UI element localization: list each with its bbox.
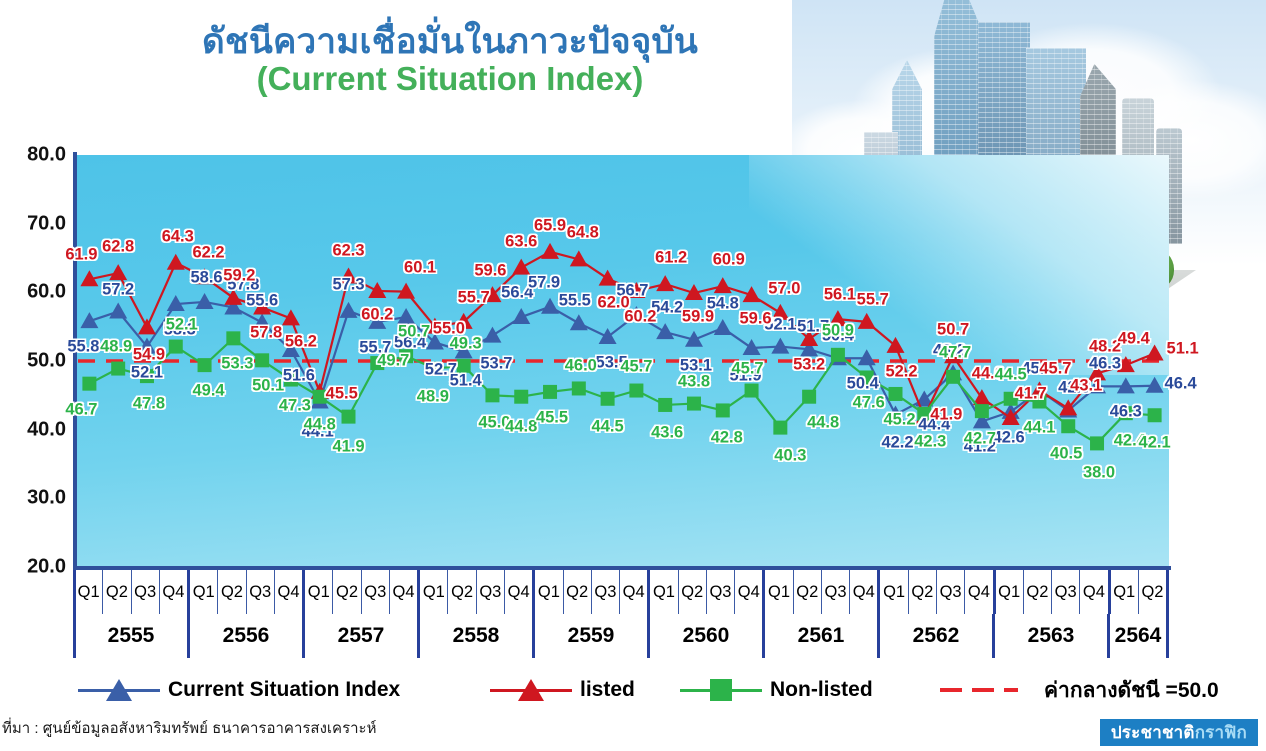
- data-label: 50.7: [398, 323, 430, 342]
- y-tick-label: 40.0: [0, 418, 66, 441]
- data-label: 65.9: [534, 216, 566, 235]
- data-label: 61.9: [65, 246, 97, 265]
- quarter-label: Q3: [592, 570, 620, 614]
- year-label: 2556: [190, 614, 305, 658]
- data-label: 60.2: [624, 307, 656, 326]
- data-label: 45.7: [620, 357, 652, 376]
- quarter-label: Q1: [1111, 570, 1139, 614]
- quarter-label: Q2: [1139, 570, 1169, 614]
- data-label: 42.8: [711, 429, 743, 448]
- data-label: 46.0: [565, 357, 597, 376]
- quarter-label: Q2: [794, 570, 822, 614]
- data-label: 44.8: [505, 417, 537, 436]
- quarter-label: Q2: [448, 570, 476, 614]
- data-label: 45.5: [326, 384, 358, 403]
- data-label: 51.1: [1167, 340, 1199, 359]
- quarter-label: Q3: [477, 570, 505, 614]
- year-label: 2564: [1110, 614, 1169, 658]
- data-label: 47.6: [853, 394, 885, 413]
- data-label: 44.5: [592, 417, 624, 436]
- page-title-thai: ดัชนีความเชื่อมั่นในภาวะปัจจุบัน: [0, 22, 900, 61]
- quarter-label: Q2: [679, 570, 707, 614]
- quarter-label: Q3: [1052, 570, 1080, 614]
- data-label: 59.9: [682, 308, 714, 327]
- data-label: 57.9: [528, 273, 560, 292]
- data-label: 62.3: [332, 241, 364, 260]
- data-label: 58.6: [190, 268, 222, 287]
- data-label: 45.7: [731, 359, 763, 378]
- data-label: 53.7: [480, 354, 512, 373]
- data-label: 55.7: [458, 288, 490, 307]
- data-label: 55.5: [559, 292, 591, 311]
- data-label: 42.1: [1139, 434, 1171, 453]
- data-label: 42.7: [964, 430, 996, 449]
- quarter-label: Q4: [850, 570, 880, 614]
- data-label: 55.8: [67, 338, 99, 357]
- data-label: 46.4: [1165, 374, 1197, 393]
- data-label: 60.9: [713, 251, 745, 270]
- data-label: 56.2: [285, 333, 317, 352]
- data-label: 44.5: [995, 365, 1027, 384]
- data-label: 64.3: [162, 227, 194, 246]
- quarter-label: Q4: [620, 570, 650, 614]
- data-label: 50.4: [847, 375, 879, 394]
- legend-label: Non-listed: [770, 678, 873, 702]
- quarter-label: Q3: [362, 570, 390, 614]
- quarter-label: Q2: [218, 570, 246, 614]
- data-label: 57.2: [102, 280, 134, 299]
- y-tick-label: 70.0: [0, 212, 66, 235]
- legend-item-non-listed[interactable]: Non-listed: [680, 668, 873, 712]
- quarter-label: Q4: [1080, 570, 1110, 614]
- data-label: 62.2: [192, 244, 224, 263]
- y-tick-label: 50.0: [0, 350, 66, 373]
- data-label: 63.6: [505, 232, 537, 251]
- data-label: 51.6: [283, 367, 315, 386]
- quarter-label: Q3: [937, 570, 965, 614]
- legend-label: Current Situation Index: [168, 678, 400, 702]
- y-tick-label: 60.0: [0, 281, 66, 304]
- data-label: 49.4: [192, 382, 224, 401]
- legend-label: listed: [580, 678, 635, 702]
- data-label: 46.3: [1110, 403, 1142, 422]
- data-label: 49.4: [1118, 330, 1150, 349]
- dashed-line-icon: [940, 678, 1036, 702]
- quarter-label: Q3: [247, 570, 275, 614]
- y-tick-label: 30.0: [0, 487, 66, 510]
- data-label: 61.2: [655, 249, 687, 268]
- data-label: 47.7: [939, 343, 971, 362]
- quarter-label: Q1: [190, 570, 218, 614]
- quarter-label: Q2: [1024, 570, 1052, 614]
- legend-item-listed[interactable]: listed: [490, 668, 635, 712]
- quarter-label: Q2: [103, 570, 131, 614]
- brand-badge: ประชาชาติกราฟิก: [1100, 719, 1258, 746]
- data-label: 47.8: [133, 395, 165, 414]
- year-label: 2557: [305, 614, 420, 658]
- brand-part-1: ประชาชาติ: [1111, 719, 1195, 746]
- data-label: 52.1: [166, 315, 198, 334]
- chart-legend: Current Situation Index listed Non-liste…: [0, 668, 1266, 712]
- quarter-label: Q1: [996, 570, 1024, 614]
- data-label: 46.7: [65, 400, 97, 419]
- data-label: 64.8: [567, 224, 599, 243]
- data-label: 41.7: [1015, 384, 1047, 403]
- quarter-label: Q4: [735, 570, 765, 614]
- data-label: 50.1: [252, 377, 284, 396]
- infographic-page: ดัชนีความเชื่อมั่นในภาวะปัจจุบัน (Curren…: [0, 0, 1266, 751]
- page-title-english: (Current Situation Index): [0, 61, 900, 98]
- data-label: 57.8: [250, 324, 282, 343]
- legend-item-current-situation-index[interactable]: Current Situation Index: [78, 668, 400, 712]
- triangle-up-icon: [78, 678, 160, 702]
- data-label: 52.2: [885, 362, 917, 381]
- quarter-label: Q1: [880, 570, 908, 614]
- legend-item-midline[interactable]: ค่ากลางดัชนี =50.0: [940, 668, 1219, 712]
- quarter-label: Q1: [420, 570, 448, 614]
- data-label: 60.2: [361, 305, 393, 324]
- quarter-label: Q4: [160, 570, 190, 614]
- quarter-label: Q2: [333, 570, 361, 614]
- data-label: 55.7: [857, 290, 889, 309]
- x-axis-labels: Q1Q2Q3Q4Q1Q2Q3Q4Q1Q2Q3Q4Q1Q2Q3Q4Q1Q2Q3Q4…: [75, 570, 1169, 658]
- data-label: 42.3: [914, 432, 946, 451]
- quarter-label: Q3: [132, 570, 160, 614]
- data-label: 54.9: [133, 346, 165, 365]
- source-note: ที่มา : ศูนย์ข้อมูลอสังหาริมทรัพย์ ธนาคา…: [2, 716, 377, 740]
- title-block: ดัชนีความเชื่อมั่นในภาวะปัจจุบัน (Curren…: [0, 22, 900, 98]
- quarter-label: Q1: [305, 570, 333, 614]
- quarter-label: Q3: [707, 570, 735, 614]
- data-label: 59.6: [474, 262, 506, 281]
- year-label: 2561: [765, 614, 880, 658]
- quarter-label-row: Q1Q2Q3Q4Q1Q2Q3Q4Q1Q2Q3Q4Q1Q2Q3Q4Q1Q2Q3Q4…: [75, 570, 1169, 614]
- brand-part-2: กราฟิก: [1195, 719, 1247, 746]
- data-label: 49.3: [450, 334, 482, 353]
- quarter-label: Q2: [564, 570, 592, 614]
- quarter-label: Q4: [275, 570, 305, 614]
- data-label: 44.8: [807, 413, 839, 432]
- data-label: 44.8: [304, 415, 336, 434]
- data-label: 43.6: [651, 423, 683, 442]
- data-label: 40.3: [774, 446, 806, 465]
- data-label: 45.2: [883, 410, 915, 429]
- data-label: 57.0: [768, 279, 800, 298]
- data-label: 50.7: [937, 321, 969, 340]
- y-tick-label: 80.0: [0, 144, 66, 167]
- quarter-label: Q1: [765, 570, 793, 614]
- data-label: 53.3: [221, 355, 253, 374]
- data-label: 50.9: [822, 321, 854, 340]
- quarter-label: Q2: [909, 570, 937, 614]
- quarter-label: Q1: [75, 570, 103, 614]
- data-label: 47.3: [279, 396, 311, 415]
- data-label: 59.6: [739, 310, 771, 329]
- data-label: 41.9: [332, 437, 364, 456]
- year-label: 2562: [880, 614, 995, 658]
- quarter-label: Q1: [535, 570, 563, 614]
- quarter-label: Q3: [822, 570, 850, 614]
- year-label: 2555: [75, 614, 190, 658]
- data-label: 62.8: [102, 238, 134, 257]
- data-label: 43.8: [678, 372, 710, 391]
- data-label: 44.1: [1023, 418, 1055, 437]
- data-label: 38.0: [1083, 464, 1115, 483]
- quarter-label: Q4: [390, 570, 420, 614]
- year-label: 2560: [650, 614, 765, 658]
- year-label: 2559: [535, 614, 650, 658]
- data-label: 41.9: [930, 405, 962, 424]
- year-label-row: 2555255625572558255925602561256225632564: [75, 614, 1169, 658]
- data-label: 46.3: [1089, 355, 1121, 374]
- legend-label: ค่ากลางดัชนี =50.0: [1044, 674, 1219, 707]
- data-label: 60.1: [404, 258, 436, 277]
- data-label: 48.2: [1089, 338, 1121, 357]
- data-label: 56.1: [824, 286, 856, 305]
- square-icon: [680, 678, 762, 702]
- data-label: 51.4: [450, 372, 482, 391]
- data-label: 45.5: [536, 408, 568, 427]
- data-label: 48.9: [417, 387, 449, 406]
- y-tick-label: 20.0: [0, 556, 66, 579]
- y-axis: [73, 152, 77, 570]
- triangle-up-icon: [490, 678, 572, 702]
- data-label: 43.1: [1070, 377, 1102, 396]
- data-label: 52.1: [131, 363, 163, 382]
- data-label: 45.7: [1039, 359, 1071, 378]
- data-label: 57.3: [332, 275, 364, 294]
- quarter-label: Q4: [505, 570, 535, 614]
- data-label: 49.7: [377, 352, 409, 371]
- data-label: 53.2: [793, 356, 825, 375]
- data-label: 42.6: [993, 428, 1025, 447]
- data-label: 55.6: [246, 291, 278, 310]
- data-label: 59.2: [223, 266, 255, 285]
- data-label: 40.5: [1050, 445, 1082, 464]
- quarter-label: Q4: [965, 570, 995, 614]
- year-label: 2563: [995, 614, 1110, 658]
- quarter-label: Q1: [650, 570, 678, 614]
- data-label: 42.2: [881, 433, 913, 452]
- year-label: 2558: [420, 614, 535, 658]
- data-label: 48.9: [100, 337, 132, 356]
